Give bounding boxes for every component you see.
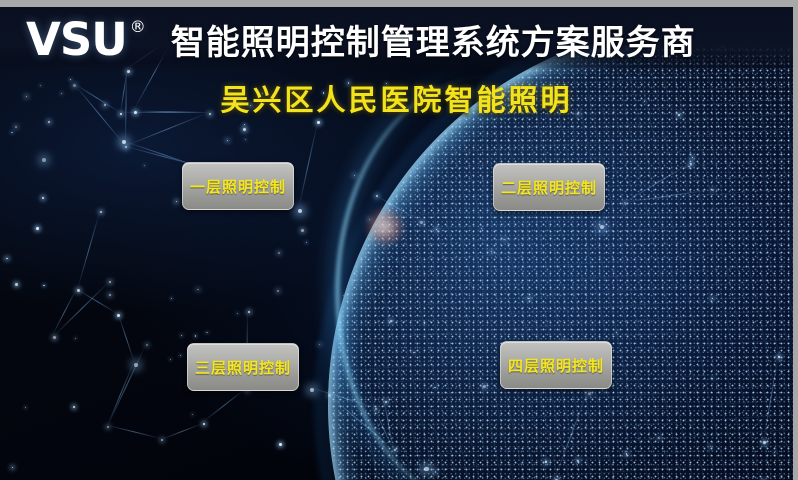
star-dot [176, 201, 177, 202]
constellation-line [77, 211, 101, 290]
star-dot [227, 140, 228, 141]
star-dot [180, 355, 181, 356]
star-dot [420, 221, 423, 224]
floor-1-lighting-button-label: 一层照明控制 [190, 176, 286, 197]
floor-3-lighting-button[interactable]: 三层照明控制 [187, 343, 299, 391]
star-dot [600, 225, 604, 229]
floor-1-lighting-button[interactable]: 一层照明控制 [182, 162, 294, 210]
star-dot [688, 166, 689, 167]
star-dot [244, 124, 245, 125]
star-dot [11, 132, 12, 133]
constellation-line [107, 425, 161, 439]
constellation-line [53, 281, 110, 337]
star-dot [278, 252, 280, 254]
star-dot [12, 467, 13, 468]
logo-wordmark: VSU [26, 17, 127, 62]
star-dot [237, 313, 238, 314]
constellation-line [107, 344, 146, 426]
star-dot [301, 229, 304, 232]
star-dot [48, 121, 50, 123]
star-dot [15, 126, 17, 128]
floor-4-lighting-button-label: 四层照明控制 [508, 355, 604, 376]
star-dot [626, 453, 627, 454]
floor-2-lighting-button[interactable]: 二层照明控制 [493, 163, 605, 211]
star-dot [25, 407, 26, 408]
star-dot [343, 295, 344, 296]
star-dot [43, 285, 44, 286]
constellation-line [117, 313, 134, 362]
constellation-line [310, 387, 376, 408]
star-dot [424, 467, 428, 471]
star-dot [369, 219, 370, 220]
floor-4-lighting-button[interactable]: 四层照明控制 [500, 341, 612, 389]
star-dot [298, 209, 302, 213]
star-dot [243, 128, 246, 131]
header-slogan: 智能照明控制管理系统方案服务商 [171, 15, 696, 64]
star-dot [203, 423, 205, 425]
star-dot [577, 460, 579, 462]
star-dot [712, 378, 713, 379]
constellation-line [298, 121, 318, 209]
star-dot [36, 227, 39, 230]
star-dot [192, 414, 193, 415]
constellation-line [161, 423, 203, 440]
star-dot [481, 228, 482, 229]
star-dot [6, 258, 7, 259]
star-dot [15, 283, 18, 286]
star-dot [774, 452, 775, 453]
application-window: VSU ® 智能照明控制管理系统方案服务商 吴兴区人民医院智能照明 一层照明控制… [0, 0, 798, 480]
star-dot [710, 446, 711, 447]
star-dot [390, 320, 391, 321]
constellation-line [624, 189, 712, 203]
star-dot [170, 359, 171, 360]
star-dot [109, 294, 110, 295]
star-dot [197, 289, 198, 290]
star-dot [413, 352, 414, 353]
star-dot [42, 197, 44, 199]
star-dot [354, 175, 355, 176]
star-dot [171, 298, 172, 299]
star-dot [195, 335, 196, 336]
star-dot [319, 344, 320, 345]
star-dot [394, 449, 396, 451]
star-dot [588, 392, 591, 395]
star-dot [435, 471, 436, 472]
star-dot [712, 189, 714, 191]
star-dot [528, 298, 529, 299]
floor-3-lighting-button-label: 三层照明控制 [195, 357, 291, 378]
floor-2-lighting-button-label: 二层照明控制 [501, 177, 597, 198]
constellation-line [554, 391, 588, 478]
star-dot [73, 406, 75, 408]
star-dot [491, 251, 492, 252]
star-dot [206, 332, 207, 333]
star-dot [503, 239, 504, 240]
constellation-line [202, 388, 246, 423]
star-dot [75, 338, 76, 339]
star-dot [306, 242, 307, 243]
star-dot [385, 401, 387, 403]
star-dot [279, 443, 282, 446]
constellation-line [375, 195, 420, 221]
star-dot [692, 157, 693, 158]
star-dot [658, 437, 660, 439]
registered-trademark-icon: ® [130, 19, 145, 35]
star-dot [483, 385, 486, 388]
constellation-line [763, 356, 779, 441]
star-dot [245, 139, 246, 140]
star-dot [602, 389, 603, 390]
star-dot [144, 165, 145, 166]
star-dot [42, 158, 46, 162]
star-dot [616, 332, 617, 333]
star-dot [332, 425, 333, 426]
star-dot [181, 335, 182, 336]
star-dot [712, 298, 713, 299]
star-dot [436, 229, 437, 230]
vsu-logo: VSU ® [26, 17, 145, 62]
star-dot [545, 461, 547, 463]
star-dot [277, 290, 279, 292]
header: VSU ® 智能照明控制管理系统方案服务商 [0, 7, 793, 71]
star-dot [424, 323, 425, 324]
constellation-line [52, 289, 77, 336]
page-title: 吴兴区人民医院智能照明 [0, 77, 793, 119]
star-dot [434, 387, 435, 388]
